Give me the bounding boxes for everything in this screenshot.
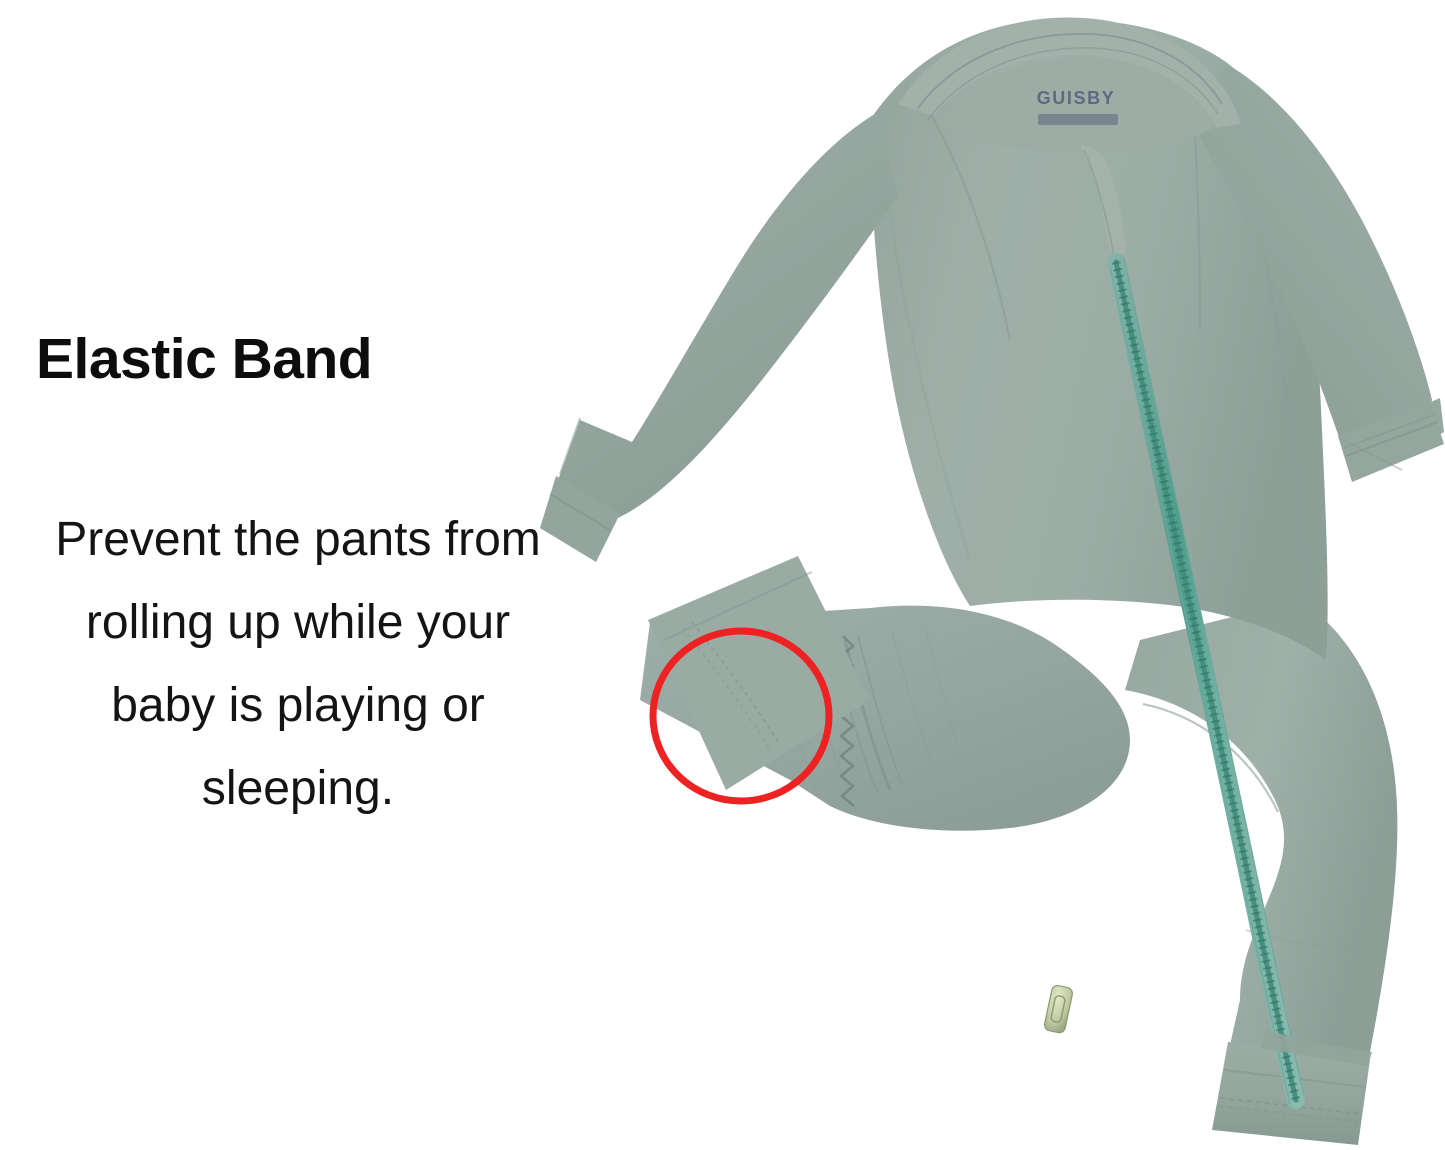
feature-description-line-1: Prevent the pants from (0, 498, 596, 581)
zipper-pull (1043, 984, 1073, 1033)
right-leg-fabric (1125, 600, 1397, 1062)
feature-title: Elastic Band (36, 331, 372, 388)
feature-description-line-2: rolling up while your (0, 581, 596, 664)
romper-right-leg (1125, 600, 1397, 1062)
feature-description-line-4: sleeping. (0, 747, 596, 830)
feature-description-line-3: baby is playing or (0, 664, 596, 747)
brand-tag-text: GUISBY (1037, 88, 1116, 108)
size-tag-text-blur (1038, 114, 1118, 125)
brand-tag-group: GUISBY (1037, 88, 1118, 125)
product-feature-infographic: Elastic Band Prevent the pants from roll… (0, 0, 1445, 1150)
product-image-baby-romper: GUISBY (540, 0, 1445, 1150)
feature-text-panel: Elastic Band Prevent the pants from roll… (0, 0, 600, 1150)
left-sleeve-fabric (558, 112, 898, 518)
romper-left-sleeve (540, 112, 898, 562)
feature-description: Prevent the pants from rolling up while … (0, 498, 596, 830)
zipper-pull-body (1043, 984, 1073, 1033)
